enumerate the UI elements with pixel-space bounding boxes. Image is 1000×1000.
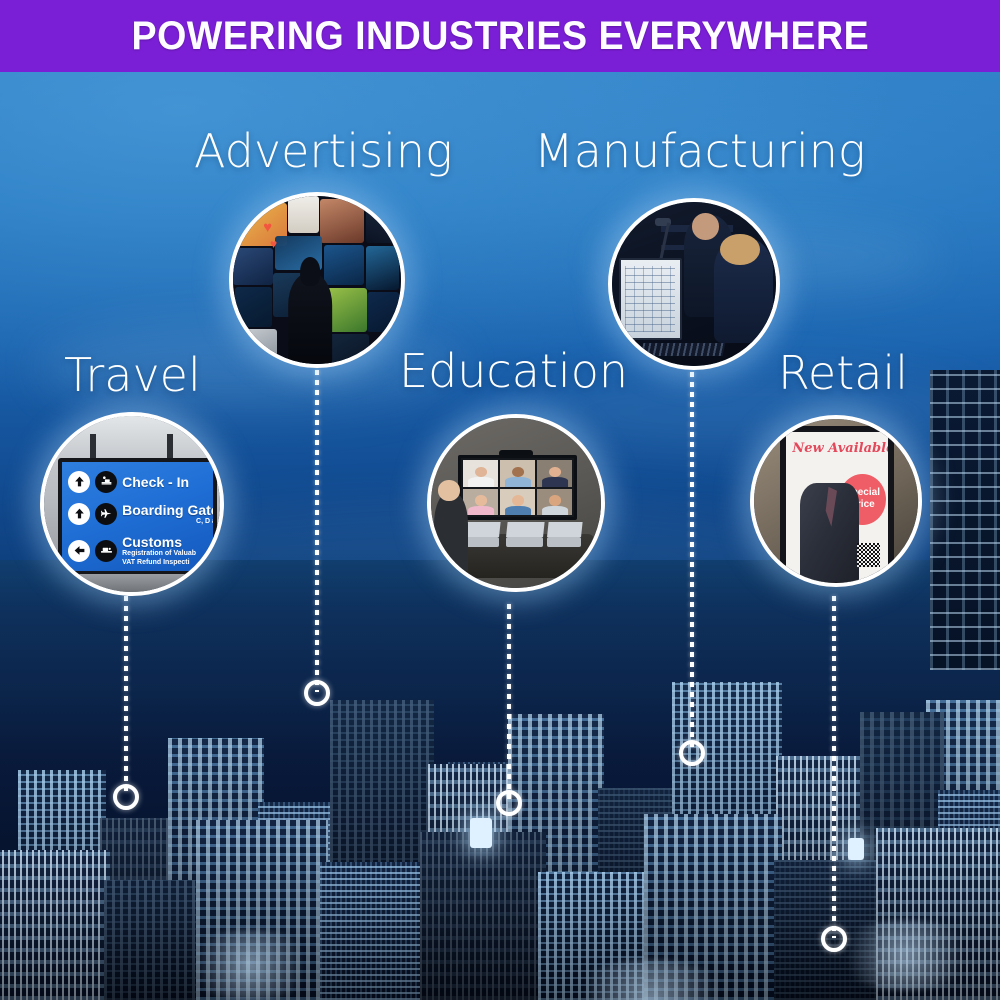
manufacturing-image — [612, 202, 776, 366]
attendee — [434, 493, 468, 571]
label-advertising: Advertising — [194, 128, 453, 174]
participant-tile — [500, 489, 535, 515]
person-silhouette — [288, 273, 332, 367]
video-call-screen — [458, 455, 577, 520]
city-light — [470, 818, 492, 848]
node-retail[interactable]: New Available Special Price — [750, 415, 922, 587]
node-advertising[interactable]: ♥ ♥ — [229, 192, 405, 368]
participant-tile — [537, 489, 572, 515]
airplane-icon — [95, 503, 117, 525]
signage-headline: New Available — [792, 441, 894, 456]
bubble-travel[interactable]: Check - In Boarding Gate C, D ar — [40, 412, 224, 596]
sign-row-title: Check - In — [122, 474, 189, 490]
sign-row: Customs Registration of Valuab VAT Refun… — [68, 534, 196, 568]
left-arrow-icon — [68, 540, 90, 562]
suit-display — [800, 483, 859, 583]
header-banner: POWERING INDUSTRIES EVERYWHERE — [0, 0, 1000, 72]
city-light — [848, 838, 864, 860]
participant-tile — [537, 460, 572, 486]
engineer-female — [714, 238, 773, 343]
sign-row: Check - In — [68, 471, 189, 493]
label-education: Education — [399, 348, 628, 394]
retail-image: New Available Special Price — [754, 419, 918, 583]
participant-tile — [463, 489, 498, 515]
advertising-image: ♥ ♥ — [233, 196, 401, 364]
heart-icon: ♥ — [270, 238, 277, 250]
street-glow — [830, 920, 980, 990]
up-arrow-icon — [68, 471, 90, 493]
keyboard — [640, 343, 725, 356]
laptop — [547, 537, 581, 547]
node-manufacturing[interactable] — [608, 198, 780, 370]
customs-icon — [95, 540, 117, 562]
label-manufacturing: Manufacturing — [534, 128, 866, 174]
sign-row-subtitle: C, D ar — [122, 518, 217, 527]
sign-row: Boarding Gate C, D ar — [68, 502, 217, 527]
travel-image: Check - In Boarding Gate C, D ar — [44, 416, 220, 592]
promo-graphic: POWERING INDUSTRIES EVERYWHERE — [0, 0, 1000, 1000]
sign-row-subtitle-2: VAT Refund Inspecti — [122, 559, 196, 568]
airport-sign: Check - In Boarding Gate C, D ar — [58, 458, 217, 575]
sign-row-subtitle-1: Registration of Valuab — [122, 550, 196, 559]
digital-signage: New Available Special Price — [780, 426, 894, 587]
participant-tile — [463, 460, 498, 486]
bubble-education[interactable] — [427, 414, 605, 592]
node-education[interactable] — [427, 414, 605, 592]
sign-row-title: Boarding Gate — [122, 502, 217, 518]
node-travel[interactable]: Check - In Boarding Gate C, D ar — [40, 412, 224, 596]
qr-code-icon — [857, 543, 879, 567]
education-image — [431, 418, 601, 588]
bubble-retail[interactable]: New Available Special Price — [750, 415, 922, 587]
heart-icon: ♥ — [263, 220, 272, 235]
label-retail: Retail — [778, 350, 908, 396]
laptop — [506, 537, 543, 547]
bubble-advertising[interactable]: ♥ ♥ — [229, 192, 405, 368]
street-glow — [180, 930, 320, 1000]
up-arrow-icon — [68, 503, 90, 525]
bubble-manufacturing[interactable] — [608, 198, 780, 370]
banner-title: POWERING INDUSTRIES EVERYWHERE — [131, 14, 869, 59]
check-in-icon — [95, 471, 117, 493]
cityscape — [0, 560, 1000, 1000]
background-tower — [930, 370, 1000, 670]
cad-monitor — [619, 258, 682, 341]
sign-row-title: Customs — [122, 534, 196, 550]
label-travel: Travel — [64, 352, 201, 398]
participant-tile — [500, 460, 535, 486]
